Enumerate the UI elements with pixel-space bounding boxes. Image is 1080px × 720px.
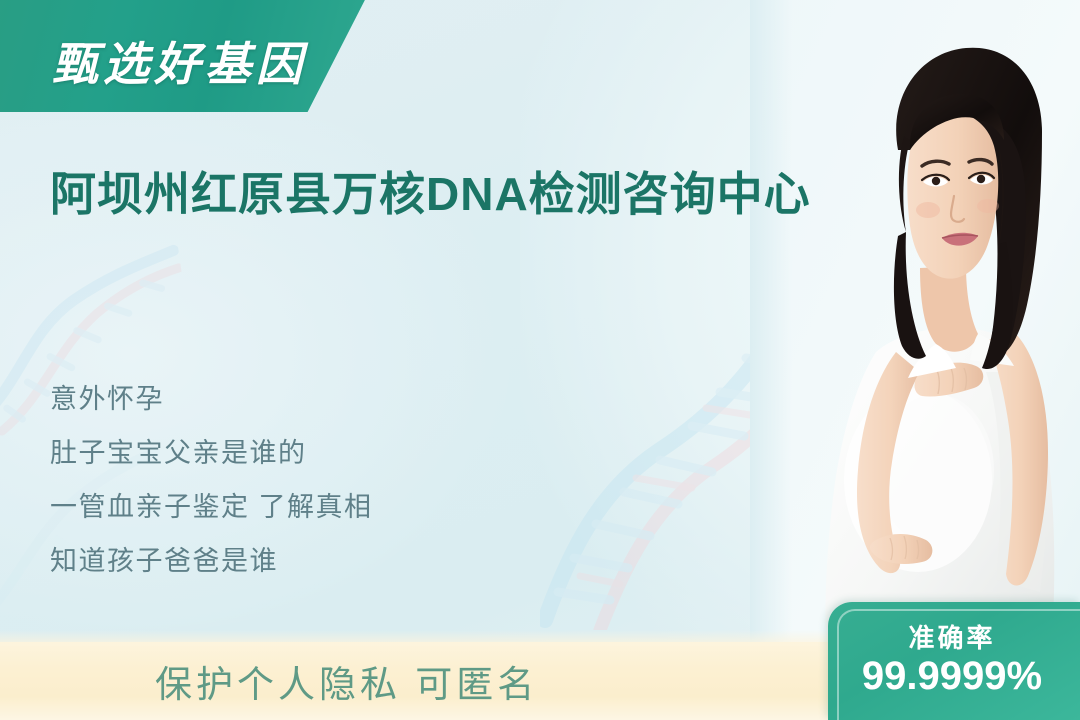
benefit-line: 意外怀孕 <box>50 372 570 426</box>
benefit-list: 意外怀孕 肚子宝宝父亲是谁的 一管血亲子鉴定 了解真相 知道孩子爸爸是谁 <box>50 372 570 588</box>
benefit-line: 肚子宝宝父亲是谁的 <box>50 426 570 480</box>
accuracy-badge: 准确率 99.9999% <box>828 602 1080 720</box>
benefit-line: 一管血亲子鉴定 了解真相 <box>50 480 570 534</box>
accuracy-label: 准确率 <box>828 618 1076 655</box>
page-title: 阿坝州红原县万核DNA检测咨询中心 <box>50 166 840 224</box>
brand-logo-text: 甄选好基因 <box>52 28 307 94</box>
accuracy-value: 99.9999% <box>828 654 1076 699</box>
promo-poster: 甄选好基因 阿坝州红原县万核DNA检测咨询中心 意外怀孕 肚子宝宝父亲是谁的 一… <box>0 0 1080 720</box>
benefit-line: 知道孩子爸爸是谁 <box>50 534 570 588</box>
privacy-notice: 保护个人隐私 可匿名 <box>155 654 538 708</box>
